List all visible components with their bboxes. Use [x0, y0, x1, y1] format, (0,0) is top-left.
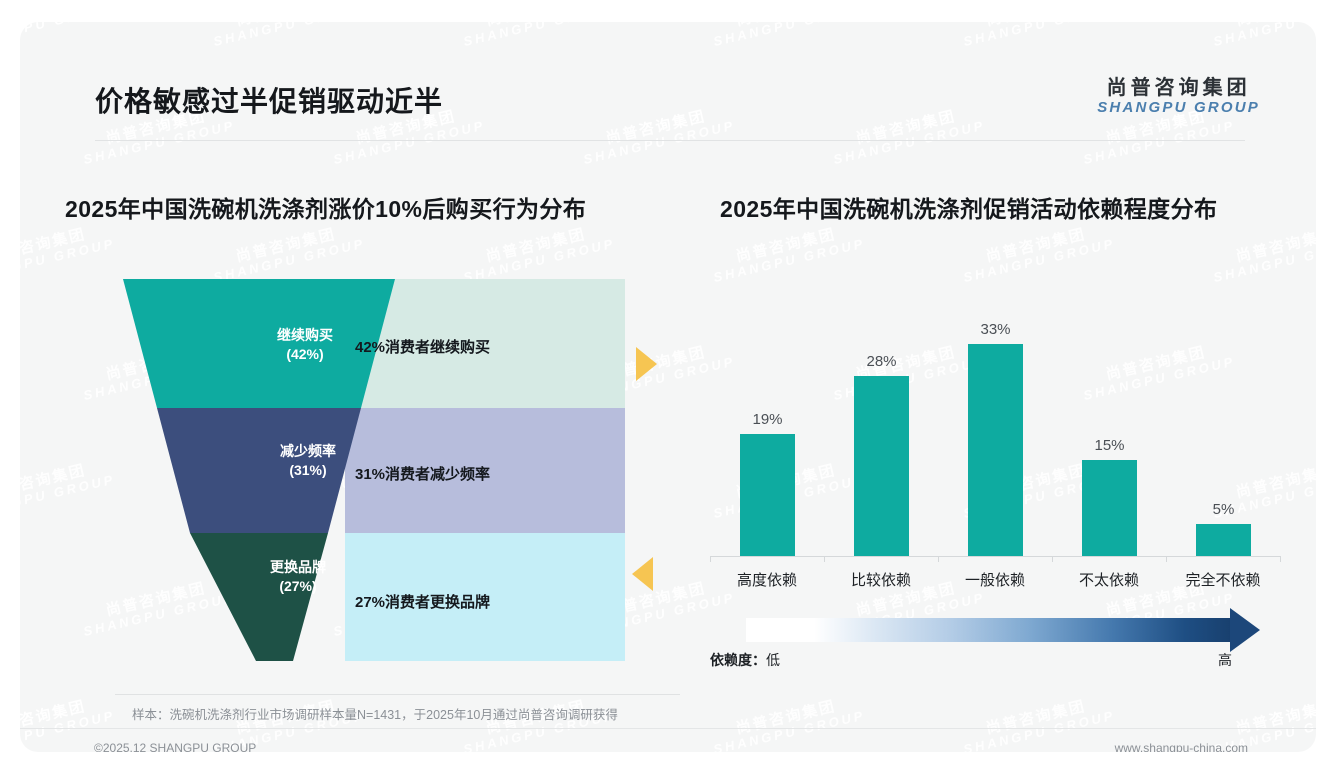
bar-category-label: 完全不依赖 — [1163, 569, 1283, 590]
legend-low-label: 低 — [766, 650, 780, 670]
axis-tick — [938, 556, 939, 562]
triangle-right-icon — [636, 347, 657, 381]
triangle-left-icon — [632, 557, 653, 591]
sample-footnote: 样本：洗碗机洗涤剂行业市场调研样本量N=1431，于2025年10月通过尚普咨询… — [132, 704, 618, 723]
watermark: 尚普咨询集团SHANGPU GROUP — [959, 693, 1117, 752]
bar-value-label: 33% — [956, 321, 1036, 338]
page-title: 价格敏感过半促销驱动近半 — [95, 80, 443, 120]
bar-category-label: 高度依赖 — [707, 569, 827, 590]
footer-website[interactable]: www.shangpu-china.com — [1115, 741, 1248, 752]
funnel-callout-text-2: 27%消费者更换品牌 — [355, 591, 490, 612]
logo-english-text: SHANGPU GROUP — [1097, 100, 1260, 117]
bar[interactable] — [1082, 460, 1137, 556]
funnel-segment-name-2: 更换品牌 — [233, 558, 363, 577]
bar-chart-axis — [710, 556, 1280, 557]
legend-title: 依赖度： — [710, 650, 766, 670]
bar-value-label: 15% — [1070, 437, 1150, 454]
left-chart-title: 2025年中国洗碗机洗涤剂涨价10%后购买行为分布 — [65, 190, 586, 224]
bar-column[interactable]: 28% — [854, 376, 909, 556]
slide-header: 价格敏感过半促销驱动近半 尚普咨询集团 SHANGPU GROUP — [20, 22, 1316, 120]
legend-high-label: 高 — [1218, 650, 1232, 670]
footer-divider — [20, 728, 1316, 729]
watermark: 尚普咨询集团SHANGPU GROUP — [20, 457, 117, 521]
bar[interactable] — [968, 344, 1023, 556]
watermark: 尚普咨询集团SHANGPU GROUP — [20, 221, 117, 285]
funnel-callout-text-1: 31%消费者减少频率 — [355, 463, 490, 484]
bar-category-label: 不太依赖 — [1049, 569, 1169, 590]
header-divider — [95, 140, 1245, 141]
gradient-bar — [746, 618, 1234, 642]
bar-column[interactable]: 5% — [1196, 524, 1251, 556]
watermark: 尚普咨询集团SHANGPU GROUP — [959, 221, 1117, 285]
dependency-gradient-legend: 依赖度： 低 高 — [710, 614, 1280, 672]
bar[interactable] — [1196, 524, 1251, 556]
logo-chinese-text: 尚普咨询集团 — [1097, 77, 1260, 99]
funnel-chart: 继续购买 (42%) 减少频率 (31%) 更换品牌 (27%) 42%消费者继… — [115, 279, 625, 661]
watermark: 尚普咨询集团SHANGPU GROUP — [709, 693, 867, 752]
bar-value-label: 5% — [1184, 501, 1264, 518]
bar[interactable] — [740, 434, 795, 556]
funnel-segment-value-2: (27%) — [233, 577, 363, 596]
funnel-segment-label-2: 更换品牌 (27%) — [233, 558, 363, 596]
funnel-segment-name-1: 减少频率 — [233, 442, 383, 461]
bar-category-label: 比较依赖 — [821, 569, 941, 590]
bar-column[interactable]: 33% — [968, 344, 1023, 556]
right-chart-title: 2025年中国洗碗机洗涤剂促销活动依赖程度分布 — [720, 190, 1217, 224]
bar-column[interactable]: 19% — [740, 434, 795, 556]
bar-chart: 19%高度依赖28%比较依赖33%一般依赖15%不太依赖5%完全不依赖 — [710, 292, 1280, 592]
watermark: 尚普咨询集团SHANGPU GROUP — [209, 221, 367, 285]
footnote-divider — [115, 694, 680, 695]
gradient-arrow-head-icon — [1230, 608, 1260, 652]
axis-tick — [710, 556, 711, 562]
bar-value-label: 19% — [728, 411, 808, 428]
funnel-callout-text-0: 42%消费者继续购买 — [355, 336, 490, 357]
bar-category-label: 一般依赖 — [935, 569, 1055, 590]
bar-value-label: 28% — [842, 353, 922, 370]
slide-canvas: 尚普咨询集团SHANGPU GROUP尚普咨询集团SHANGPU GROUP尚普… — [20, 22, 1316, 752]
axis-tick — [1166, 556, 1167, 562]
bar-column[interactable]: 15% — [1082, 460, 1137, 556]
watermark: 尚普咨询集团SHANGPU GROUP — [1209, 221, 1316, 285]
watermark: 尚普咨询集团SHANGPU GROUP — [709, 221, 867, 285]
axis-tick — [824, 556, 825, 562]
bar[interactable] — [854, 376, 909, 556]
footer-copyright: ©2025.12 SHANGPU GROUP — [94, 741, 256, 752]
watermark: 尚普咨询集团SHANGPU GROUP — [459, 221, 617, 285]
brand-logo: 尚普咨询集团 SHANGPU GROUP — [1097, 77, 1260, 117]
axis-tick — [1280, 556, 1281, 562]
axis-tick — [1052, 556, 1053, 562]
